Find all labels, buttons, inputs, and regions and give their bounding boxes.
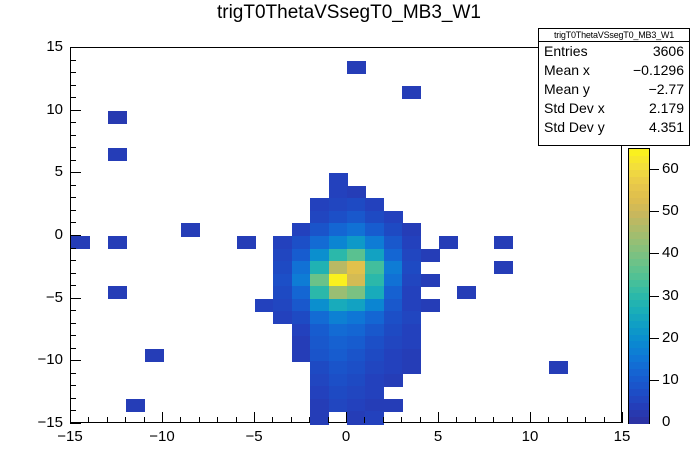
heatmap-cell	[273, 311, 292, 324]
heatmap-cell	[365, 399, 384, 412]
heatmap-cell	[347, 186, 366, 199]
heatmap-cell	[402, 349, 421, 362]
heatmap-cell	[329, 274, 348, 287]
palette-tick-label: 60	[662, 160, 679, 177]
heatmap-cell	[402, 299, 421, 312]
y-axis-minor-tick	[70, 323, 76, 324]
heatmap-cell	[402, 249, 421, 262]
y-axis-tick	[70, 110, 81, 111]
heatmap-cell	[384, 286, 403, 299]
heatmap-cell	[292, 324, 311, 337]
heatmap-cell	[273, 286, 292, 299]
palette-segment	[629, 307, 649, 314]
palette-segment	[629, 293, 649, 300]
palette-tick-label: 40	[662, 244, 679, 261]
x-axis-label: 15	[597, 428, 647, 445]
palette-tick	[650, 338, 659, 339]
heatmap-cell	[402, 286, 421, 299]
heatmap-cell	[329, 386, 348, 399]
palette-segment	[629, 238, 649, 245]
palette-segment	[629, 375, 649, 382]
heatmap-cell	[292, 299, 311, 312]
heatmap-cell	[384, 249, 403, 262]
y-axis-minor-tick	[70, 373, 76, 374]
y-axis-minor-tick	[70, 285, 76, 286]
heatmap-cell	[292, 223, 311, 236]
statistics-row: Std Dev x2.179	[539, 99, 689, 118]
x-axis-minor-tick	[107, 417, 108, 423]
heatmap-cell	[126, 399, 145, 412]
heatmap-cell	[365, 336, 384, 349]
y-axis-tick	[70, 172, 81, 173]
heatmap-cell	[384, 299, 403, 312]
palette-segment	[629, 382, 649, 389]
palette-tick	[650, 211, 659, 212]
palette-segment	[629, 204, 649, 211]
heatmap-cell	[421, 299, 440, 312]
statistics-row-value: −2.77	[620, 80, 689, 99]
y-axis-minor-tick	[70, 185, 76, 186]
heatmap-cell	[347, 399, 366, 412]
x-axis-label: −10	[137, 428, 187, 445]
heatmap-cell	[365, 223, 384, 236]
heatmap-cell	[347, 349, 366, 362]
heatmap-cell	[292, 286, 311, 299]
x-axis-minor-tick	[236, 417, 237, 423]
palette-segment	[629, 231, 649, 238]
x-axis-minor-tick	[548, 417, 549, 423]
x-axis-minor-tick	[456, 417, 457, 423]
y-axis-minor-tick	[70, 260, 76, 261]
x-axis-minor-tick	[420, 417, 421, 423]
heatmap-cell	[108, 236, 127, 249]
heatmap-cell	[402, 86, 421, 99]
palette-segment	[629, 368, 649, 375]
heatmap-cell	[402, 236, 421, 249]
palette-segment	[629, 341, 649, 348]
statistics-box: trigT0ThetaVSsegT0_MB3_W1 Entries3606Mea…	[538, 28, 690, 146]
palette-segment	[629, 327, 649, 334]
heatmap-cell	[365, 386, 384, 399]
heatmap-cell	[310, 274, 329, 287]
heatmap-cell	[108, 286, 127, 299]
heatmap-cell	[310, 374, 329, 387]
heatmap-cell	[292, 311, 311, 324]
palette-segment	[629, 334, 649, 341]
heatmap-cell	[402, 336, 421, 349]
heatmap-cell	[347, 286, 366, 299]
statistics-row: Entries3606	[539, 42, 689, 61]
heatmap-cell	[108, 148, 127, 161]
heatmap-cell	[292, 236, 311, 249]
heatmap-cell	[310, 223, 329, 236]
heatmap-cell	[365, 311, 384, 324]
heatmap-cell	[310, 349, 329, 362]
x-axis-minor-tick	[328, 417, 329, 423]
statistics-row-value: −0.1296	[620, 61, 689, 80]
x-axis-minor-tick	[291, 417, 292, 423]
statistics-row-value: 3606	[620, 42, 689, 61]
palette-segment	[629, 361, 649, 368]
palette-segment	[629, 224, 649, 231]
x-axis-tick	[438, 412, 439, 423]
y-axis-minor-tick	[70, 197, 76, 198]
x-axis-minor-tick	[272, 417, 273, 423]
heatmap-cell	[347, 249, 366, 262]
x-axis-minor-tick	[585, 417, 586, 423]
y-axis-minor-tick	[70, 310, 76, 311]
palette-segment	[629, 183, 649, 190]
heatmap-cell	[329, 299, 348, 312]
y-axis-minor-tick	[70, 335, 76, 336]
palette-segment	[629, 286, 649, 293]
heatmap-cell	[384, 349, 403, 362]
heatmap-cell	[292, 261, 311, 274]
x-axis-minor-tick	[180, 417, 181, 423]
heatmap-cell	[384, 361, 403, 374]
y-axis-label: 10	[21, 101, 63, 118]
x-axis-minor-tick	[144, 417, 145, 423]
y-axis-label: 5	[21, 163, 63, 180]
heatmap-cell	[310, 286, 329, 299]
palette-tick	[650, 253, 659, 254]
heatmap-cell	[310, 336, 329, 349]
heatmap-cell	[347, 299, 366, 312]
x-axis-minor-tick	[383, 417, 384, 423]
statistics-row-label: Mean y	[539, 80, 620, 99]
statistics-row-label: Entries	[539, 42, 620, 61]
x-axis-tick	[346, 412, 347, 423]
heatmap-cell	[365, 374, 384, 387]
heatmap-cell	[329, 236, 348, 249]
y-axis-label: 0	[21, 226, 63, 243]
palette-segment	[629, 149, 649, 156]
heatmap-cell	[457, 286, 476, 299]
heatmap-cell	[402, 324, 421, 337]
heatmap-cell	[384, 374, 403, 387]
heatmap-cell	[549, 361, 568, 374]
heatmap-cell	[347, 236, 366, 249]
palette-segment	[629, 355, 649, 362]
palette-tick-label: 30	[662, 287, 679, 304]
heatmap-cell	[365, 198, 384, 211]
palette-tick	[650, 296, 659, 297]
heatmap-cell	[402, 311, 421, 324]
x-axis-tick	[622, 412, 623, 423]
palette-tick	[650, 380, 659, 381]
palette-tick-label: 0	[662, 413, 670, 430]
x-axis-minor-tick	[309, 417, 310, 423]
heatmap-cell	[347, 261, 366, 274]
y-axis-minor-tick	[70, 147, 76, 148]
heatmap-cell	[329, 186, 348, 199]
heatmap-cell	[310, 311, 329, 324]
y-axis-minor-tick	[70, 273, 76, 274]
x-axis-minor-tick	[401, 417, 402, 423]
heatmap-cell	[329, 336, 348, 349]
heatmap-cell	[329, 311, 348, 324]
heatmap-cell	[384, 324, 403, 337]
heatmap-cell	[347, 374, 366, 387]
statistics-row-label: Mean x	[539, 61, 620, 80]
heatmap-cell	[255, 299, 274, 312]
x-axis-minor-tick	[604, 417, 605, 423]
statistics-box-title: trigT0ThetaVSsegT0_MB3_W1	[539, 29, 689, 42]
heatmap-cell	[365, 411, 384, 424]
y-axis-tick	[70, 298, 81, 299]
palette-segment	[629, 409, 649, 416]
heatmap-cell	[402, 361, 421, 374]
palette-segment	[629, 265, 649, 272]
heatmap-cell	[329, 324, 348, 337]
heatmap-cell	[310, 386, 329, 399]
heatmap-cell	[108, 111, 127, 124]
statistics-row: Mean y−2.77	[539, 80, 689, 99]
heatmap-cell	[347, 311, 366, 324]
heatmap-cell	[292, 274, 311, 287]
x-axis-label: 10	[505, 428, 555, 445]
palette-segment	[629, 176, 649, 183]
heatmap-cell	[310, 261, 329, 274]
heatmap-cell	[329, 223, 348, 236]
x-axis-label: −5	[229, 428, 279, 445]
heatmap-cell	[494, 236, 513, 249]
heatmap-cell	[365, 299, 384, 312]
heatmap-cell	[237, 236, 256, 249]
statistics-table: Entries3606Mean x−0.1296Mean y−2.77Std D…	[539, 42, 689, 137]
heatmap-cell	[310, 361, 329, 374]
heatmap-cell	[365, 286, 384, 299]
heatmap-cell	[329, 173, 348, 186]
heatmap-cell	[329, 349, 348, 362]
heatmap-cell	[402, 261, 421, 274]
palette-segment	[629, 218, 649, 225]
palette-segment	[629, 416, 649, 423]
palette-segment	[629, 245, 649, 252]
x-axis-tick	[70, 412, 71, 423]
palette-segment	[629, 272, 649, 279]
x-axis-tick	[254, 412, 255, 423]
y-axis-minor-tick	[70, 85, 76, 86]
heatmap-cell	[365, 324, 384, 337]
heatmap-cell	[365, 261, 384, 274]
heatmap-cell	[329, 374, 348, 387]
x-axis-minor-tick	[567, 417, 568, 423]
heatmap-cell	[347, 361, 366, 374]
heatmap-cell	[421, 274, 440, 287]
heatmap-cell	[329, 286, 348, 299]
heatmap-cell	[329, 399, 348, 412]
x-axis-minor-tick	[475, 417, 476, 423]
y-axis-minor-tick	[70, 248, 76, 249]
palette-tick-label: 10	[662, 371, 679, 388]
palette-segment	[629, 348, 649, 355]
palette-segment	[629, 197, 649, 204]
heatmap-cell	[329, 261, 348, 274]
heatmap-cell	[421, 249, 440, 262]
heatmap-cell	[347, 223, 366, 236]
heatmap-cell	[384, 311, 403, 324]
heatmap-cell	[273, 249, 292, 262]
y-axis-label: −5	[21, 289, 63, 306]
heatmap-cell	[347, 386, 366, 399]
y-axis-label: 15	[21, 38, 63, 55]
y-axis-minor-tick	[70, 210, 76, 211]
statistics-row: Mean x−0.1296	[539, 61, 689, 80]
heatmap-cell	[310, 211, 329, 224]
heatmap-cell	[365, 236, 384, 249]
x-axis-minor-tick	[364, 417, 365, 423]
x-axis-minor-tick	[88, 417, 89, 423]
statistics-row-label: Std Dev x	[539, 99, 620, 118]
heatmap-cell	[347, 336, 366, 349]
palette-segment	[629, 389, 649, 396]
heatmap-cell	[329, 249, 348, 262]
heatmap-cell	[402, 274, 421, 287]
x-axis-tick	[530, 412, 531, 423]
palette-segment	[629, 170, 649, 177]
y-axis-minor-tick	[70, 160, 76, 161]
palette-segment	[629, 300, 649, 307]
heatmap-cell	[310, 411, 329, 424]
heatmap-cell	[439, 236, 458, 249]
palette-segment	[629, 313, 649, 320]
heatmap-cell	[273, 236, 292, 249]
x-axis-minor-tick	[217, 417, 218, 423]
statistics-row-label: Std Dev y	[539, 118, 620, 137]
heatmap-cell	[329, 211, 348, 224]
x-axis-minor-tick	[512, 417, 513, 423]
palette-segment	[629, 190, 649, 197]
heatmap-cell	[347, 198, 366, 211]
heatmap-cell	[402, 223, 421, 236]
heatmap-cell	[365, 211, 384, 224]
x-axis-minor-tick	[493, 417, 494, 423]
heatmap-cell	[384, 223, 403, 236]
statistics-row-value: 2.179	[620, 99, 689, 118]
heatmap-cell	[384, 236, 403, 249]
y-axis-minor-tick	[70, 398, 76, 399]
heatmap-cell	[310, 236, 329, 249]
x-axis-label: −15	[45, 428, 95, 445]
heatmap-cell	[384, 399, 403, 412]
heatmap-cell	[347, 274, 366, 287]
palette-segment	[629, 402, 649, 409]
palette-segment	[629, 211, 649, 218]
palette-segment	[629, 252, 649, 259]
heatmap-cell	[310, 324, 329, 337]
y-axis-tick	[70, 423, 81, 424]
y-axis-minor-tick	[70, 385, 76, 386]
y-axis-label: −10	[21, 351, 63, 368]
page-title: trigT0ThetaVSsegT0_MB3_W1	[0, 2, 698, 24]
palette-segment	[629, 320, 649, 327]
heatmap-cell	[273, 261, 292, 274]
y-axis-minor-tick	[70, 348, 76, 349]
heatmap-cell	[292, 349, 311, 362]
palette-segment	[629, 396, 649, 403]
heatmap-cell	[310, 198, 329, 211]
palette-segment	[629, 163, 649, 170]
heatmap-cell	[347, 61, 366, 74]
heatmap-cell	[384, 274, 403, 287]
color-palette-bar	[628, 148, 650, 424]
heatmap-cell	[365, 249, 384, 262]
color-palette-axis: 0102030405060	[650, 148, 694, 424]
root-canvas: trigT0ThetaVSsegT0_MB3_W1 −15−10−5051015…	[0, 0, 698, 476]
heatmap-cell	[292, 249, 311, 262]
heatmap-cell	[365, 274, 384, 287]
palette-tick-label: 50	[662, 202, 679, 219]
heatmap-cell	[365, 361, 384, 374]
y-axis-minor-tick	[70, 410, 76, 411]
heatmap-cell	[273, 274, 292, 287]
heatmap-cell	[494, 261, 513, 274]
x-axis-minor-tick	[125, 417, 126, 423]
x-axis-label: 5	[413, 428, 463, 445]
palette-segment	[629, 156, 649, 163]
heatmap-cell	[329, 198, 348, 211]
heatmap-cell	[273, 299, 292, 312]
palette-tick	[650, 169, 659, 170]
x-axis-tick	[162, 412, 163, 423]
palette-segment	[629, 279, 649, 286]
heatmap-cell	[384, 336, 403, 349]
heatmap-cell	[145, 349, 164, 362]
heatmap-cell	[347, 211, 366, 224]
heatmap-cell	[181, 223, 200, 236]
x-axis-label: 0	[321, 428, 371, 445]
y-axis-minor-tick	[70, 72, 76, 73]
heatmap-cell	[310, 299, 329, 312]
statistics-row: Std Dev y4.351	[539, 118, 689, 137]
y-axis-minor-tick	[70, 222, 76, 223]
palette-segment	[629, 259, 649, 266]
y-axis-tick	[70, 360, 81, 361]
y-axis-tick	[70, 235, 81, 236]
heatmap-cell	[384, 261, 403, 274]
x-axis-minor-tick	[199, 417, 200, 423]
heatmap-cell	[310, 399, 329, 412]
heatmap-cell	[365, 349, 384, 362]
statistics-row-value: 4.351	[620, 118, 689, 137]
y-axis-minor-tick	[70, 60, 76, 61]
y-axis-minor-tick	[70, 97, 76, 98]
y-axis-minor-tick	[70, 122, 76, 123]
palette-tick-label: 20	[662, 329, 679, 346]
heatmap-cell	[384, 211, 403, 224]
y-axis-minor-tick	[70, 135, 76, 136]
heatmap-cell	[329, 361, 348, 374]
heatmap-cell	[310, 249, 329, 262]
heatmap-cell	[347, 324, 366, 337]
heatmap-cell	[292, 336, 311, 349]
y-axis-tick	[70, 47, 81, 48]
